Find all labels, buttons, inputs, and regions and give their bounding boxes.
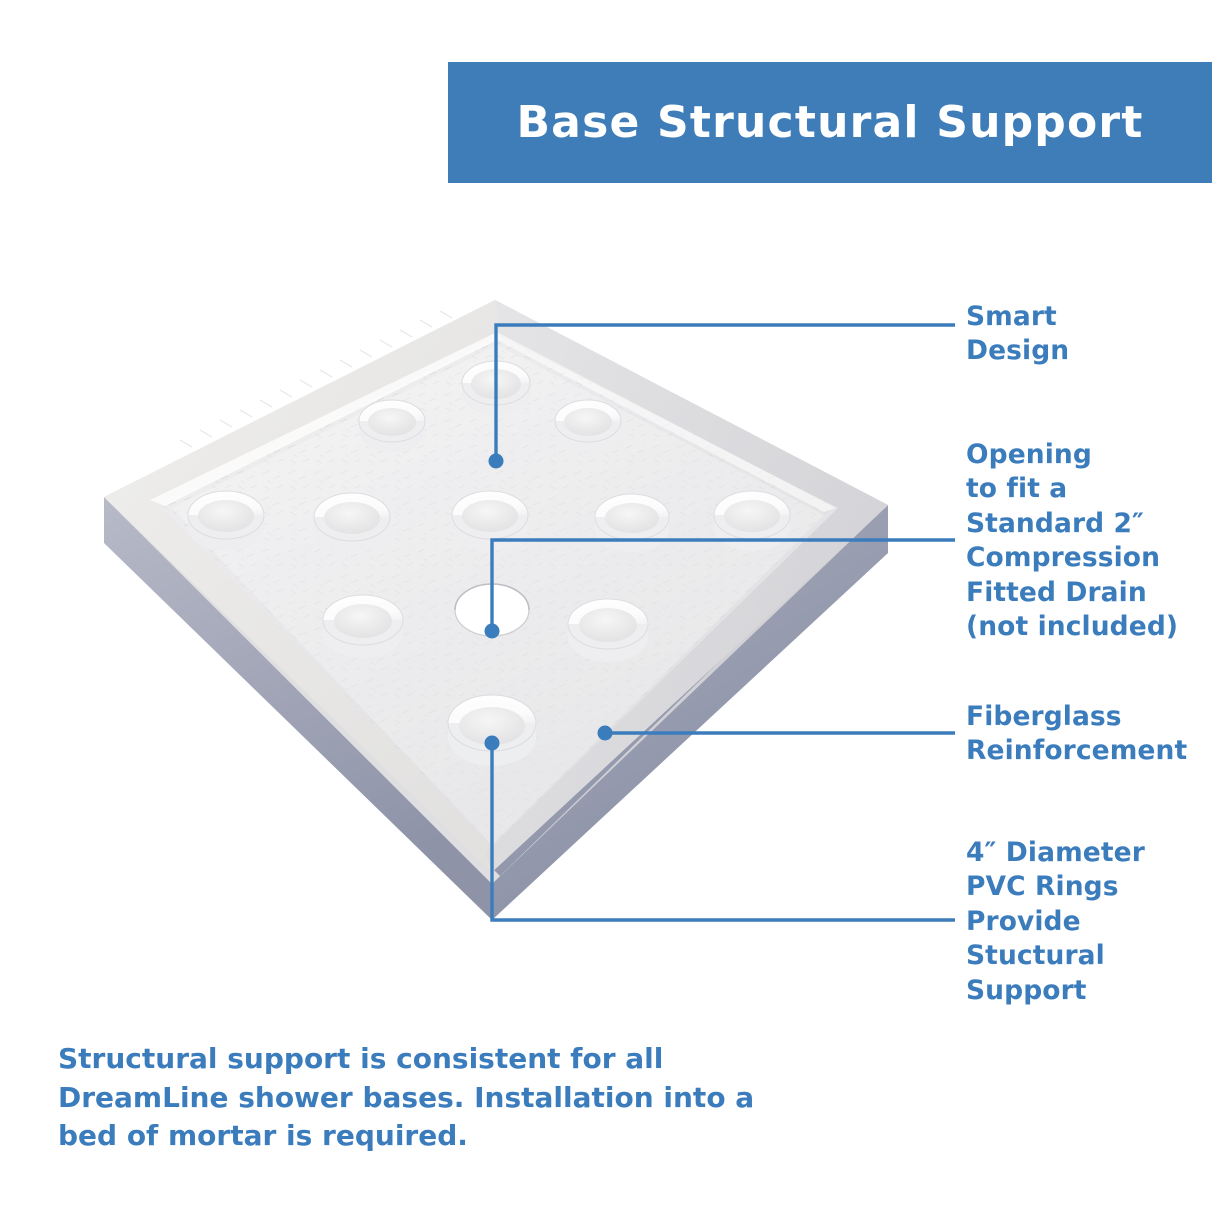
- base-outer-wall-left: [104, 300, 512, 512]
- base-floor-surface: [104, 300, 888, 872]
- base-bevel-right: [492, 505, 888, 884]
- leader-lines: [492, 325, 955, 920]
- callout-label-smart-design: Smart Design: [966, 300, 1206, 369]
- pvc-ring: [462, 361, 530, 415]
- leader-dots: [485, 454, 613, 751]
- pvc-ring-group: [188, 361, 790, 766]
- base-shading-right: [497, 332, 836, 512]
- base-floor-texture: [104, 300, 888, 872]
- pvc-ring-front: [448, 695, 536, 766]
- callout-label-fiberglass: Fiberglass Reinforcement: [966, 700, 1206, 769]
- drain-hole: [455, 584, 529, 636]
- pvc-ring: [188, 491, 264, 551]
- pvc-ring: [714, 491, 790, 551]
- leader-line-drain-opening: [492, 540, 955, 632]
- base-side-face-right: [492, 505, 888, 920]
- base-outer-wall-right: [495, 300, 888, 519]
- pvc-ring: [323, 595, 403, 658]
- leader-dot-smart-design: [489, 454, 504, 469]
- leader-line-pvc-rings: [492, 742, 955, 920]
- shower-base-body: [104, 300, 888, 920]
- header-banner: Base Structural Support: [448, 62, 1212, 183]
- leader-dot-pvc-rings: [485, 736, 500, 751]
- base-curb-right: [486, 300, 888, 872]
- pvc-ring: [452, 491, 528, 551]
- pvc-ring: [595, 494, 669, 552]
- pvc-ring: [555, 400, 621, 452]
- footer-caption: Structural support is consistent for all…: [58, 1040, 818, 1156]
- callout-label-pvc-rings: 4″ Diameter PVC Rings Provide Stuctural …: [966, 836, 1206, 1008]
- base-bevel-left: [104, 497, 500, 884]
- base-inner-glow: [172, 345, 824, 845]
- base-side-face-left: [104, 497, 492, 920]
- base-shading-left: [150, 332, 497, 506]
- base-curb-left: [104, 300, 500, 872]
- base-wall-ridges: [180, 311, 452, 447]
- pvc-ring: [568, 599, 648, 662]
- pvc-ring: [314, 493, 390, 553]
- page-title: Base Structural Support: [516, 97, 1143, 148]
- leader-dot-drain-opening: [485, 624, 500, 639]
- leader-dot-fiberglass: [598, 726, 613, 741]
- pvc-ring: [359, 400, 425, 452]
- leader-line-smart-design: [496, 325, 955, 462]
- callout-label-drain-opening: Opening to fit a Standard 2″ Compression…: [966, 438, 1212, 645]
